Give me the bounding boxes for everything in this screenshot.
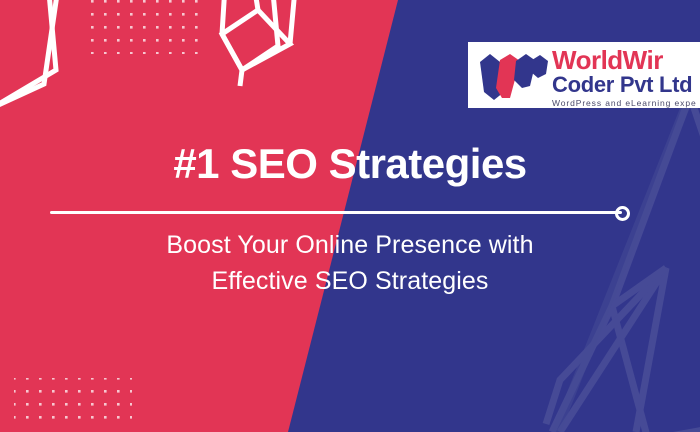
logo-name-line1: WorldWir xyxy=(552,47,700,73)
w-hexagon-logo-mark-icon xyxy=(476,52,548,102)
worldwide-coder-logo[interactable]: WorldWir Coder Pvt Ltd WordPress and eLe… xyxy=(468,42,700,108)
logo-tagline: WordPress and eLearning expe xyxy=(552,99,700,108)
logo-name-line2: Coder Pvt Ltd xyxy=(552,74,700,96)
logo-wordmark: WorldWir Coder Pvt Ltd WordPress and eLe… xyxy=(552,47,700,108)
seo-strategies-banner: WorldWir Coder Pvt Ltd WordPress and eLe… xyxy=(0,0,700,432)
dot-grid-bottom-left xyxy=(14,378,132,422)
dot-grid-top xyxy=(88,0,206,54)
